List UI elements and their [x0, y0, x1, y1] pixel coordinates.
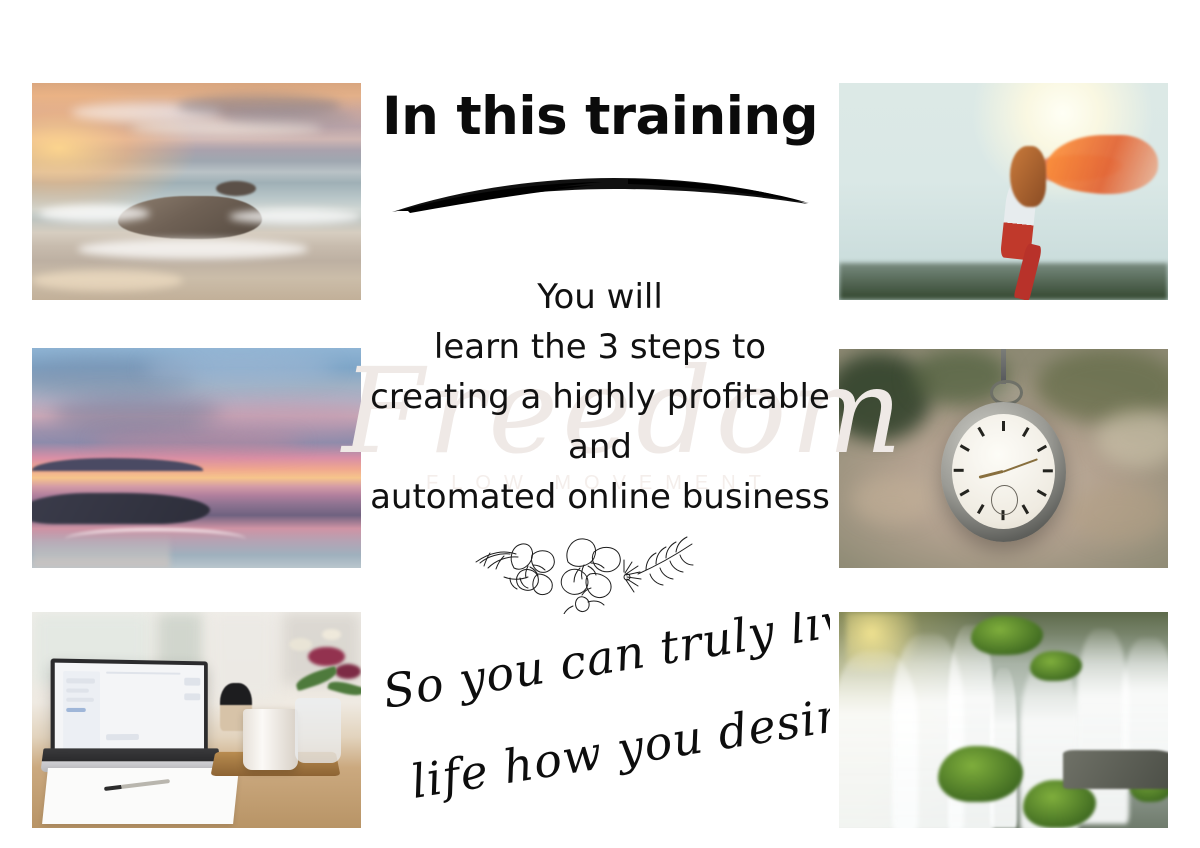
- training-slide: Sunrise over ocean beach with rock in su…: [0, 0, 1200, 848]
- body-line-1: You will: [362, 272, 838, 322]
- photo-pocket-watch: Vintage pocket watch hanging on a chain …: [839, 349, 1168, 568]
- center-content-column: Freedom FLOW MOVEMENT In this training Y…: [366, 0, 834, 848]
- brush-stroke-underline-icon: [388, 168, 812, 224]
- photo-laptop-desk: Laptop on wooden desk with coffee mug, n…: [32, 612, 361, 828]
- photo-waterfall: Waterfall cascading over mossy green roc…: [839, 612, 1168, 828]
- photo-scarf-woman: Woman walking with orange scarf flowing …: [839, 83, 1168, 300]
- waterfall-artwork: [839, 612, 1168, 828]
- page-title: In this training: [366, 86, 834, 147]
- body-line-4: and: [362, 422, 838, 472]
- body-line-5: automated online business: [362, 472, 838, 522]
- twilight-beach-artwork: [32, 348, 361, 568]
- body-copy: You will learn the 3 steps to creating a…: [362, 272, 838, 522]
- beach-sunrise-artwork: [32, 83, 361, 300]
- laptop-desk-artwork: [32, 612, 361, 828]
- pocket-watch-artwork: [839, 349, 1168, 568]
- body-line-2: learn the 3 steps to: [362, 322, 838, 372]
- body-line-3: creating a highly profitable: [362, 372, 838, 422]
- photo-twilight-beach: Pink and blue twilight sky over beach sh…: [32, 348, 361, 568]
- photo-beach-sunrise: Sunrise over ocean beach with rock in su…: [32, 83, 361, 300]
- floral-divider-icon: [470, 522, 710, 614]
- handwritten-script: So you can truly live life how you desir…: [370, 612, 830, 832]
- scarf-woman-artwork: [839, 83, 1168, 300]
